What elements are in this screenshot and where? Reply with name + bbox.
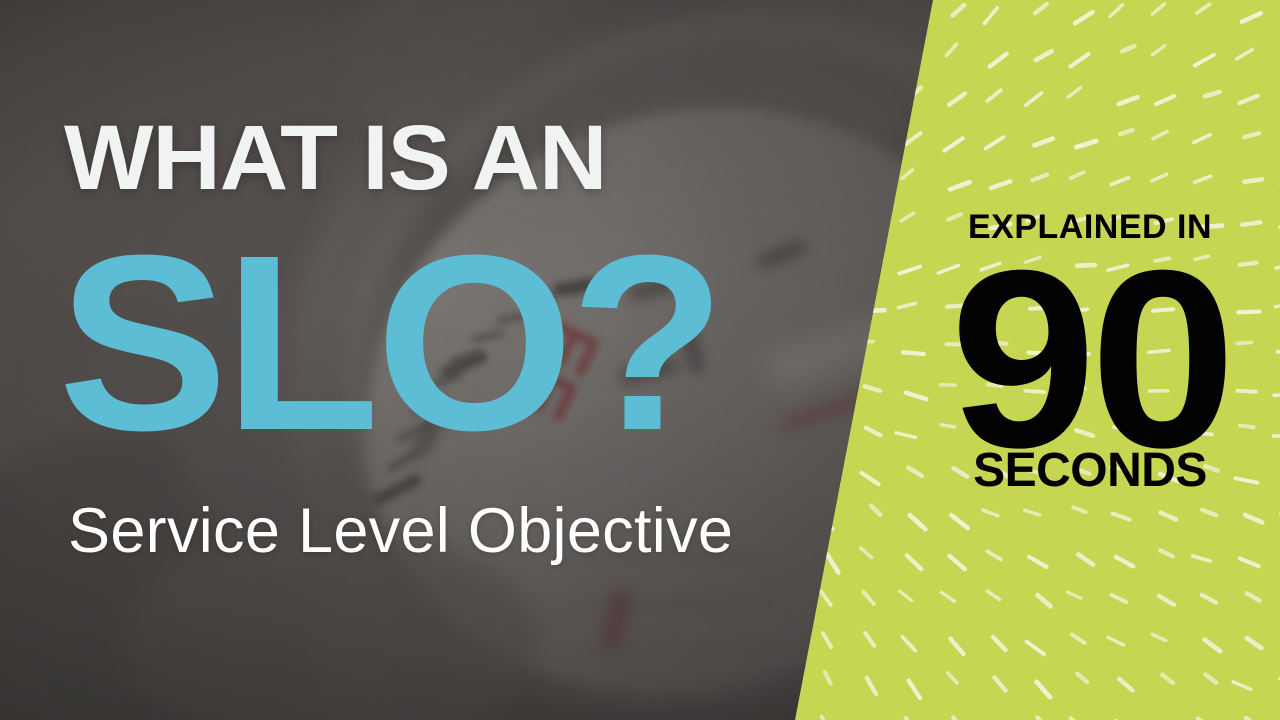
badge-unit: SECONDS [930, 447, 1250, 495]
page-title-line1: WHAT IS AN [64, 116, 606, 201]
slide-canvas: WHAT IS AN SLO? Service Level Objective … [0, 0, 1280, 720]
acronym-expansion: Service Level Objective [68, 500, 733, 563]
page-title-acronym: SLO? [58, 230, 722, 455]
